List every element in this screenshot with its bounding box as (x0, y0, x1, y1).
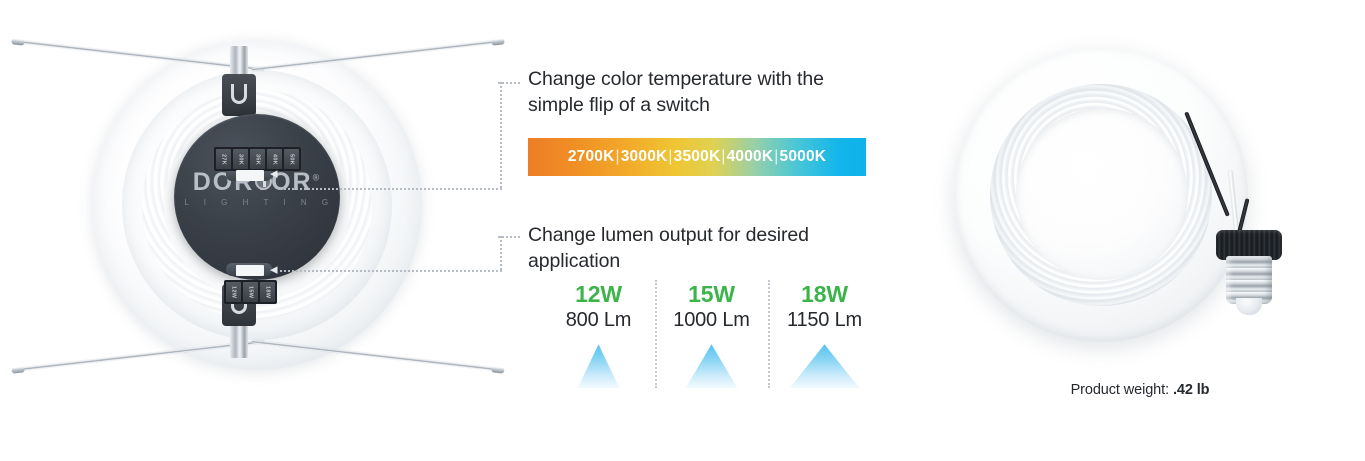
dip-cell[interactable]: 12W (226, 282, 241, 302)
cct-separator: | (720, 148, 726, 165)
dip-cell[interactable]: 50K (284, 149, 299, 169)
base-contact-tip (1236, 298, 1262, 315)
feature-title-color-temperature: Change color temperature with the simple… (528, 66, 858, 118)
wattage-value: 12W (575, 282, 622, 307)
brand-tagline: L I G H T I N G (174, 198, 340, 207)
cct-option: 2700K (568, 148, 615, 165)
lumen-value: 1150 Lm (787, 308, 862, 333)
wattage-option-18w: 18W 1150 Lm (768, 282, 881, 388)
lumen-value: 800 Lm (566, 308, 632, 333)
dip-cell[interactable]: 18W (260, 282, 275, 302)
feature-title-lumen-output: Change lumen output for desired applicat… (528, 222, 858, 274)
dip-cell[interactable]: 35K (250, 149, 265, 169)
dip-cell[interactable]: 30K (233, 149, 248, 169)
beam-cone-icon (686, 344, 738, 388)
product-weight-label: Product weight: (1071, 382, 1169, 398)
cct-option: 3000K (621, 148, 668, 165)
cct-option: 3500K (674, 148, 721, 165)
e26-screw-base (1226, 256, 1272, 304)
wattage-option-12w: 12W 800 Lm (542, 282, 655, 388)
feature-callouts: Change color temperature with the simple… (528, 0, 888, 461)
wattage-value: 15W (688, 282, 735, 307)
color-temperature-options: 2700K|3000K|3500K|4000K|5000K (568, 148, 826, 166)
cct-pointer-icon: ◂ (270, 166, 278, 181)
cct-option: 4000K (727, 148, 774, 165)
wattage-option-15w: 15W 1000 Lm (655, 282, 768, 388)
beam-cone-icon (790, 344, 860, 388)
wattage-pointer-icon: ◂ (270, 262, 278, 277)
cct-separator: | (773, 148, 779, 165)
product-weight-value: .42 lb (1173, 382, 1209, 398)
cct-dip-switch-bank[interactable]: 27K 30K 35K 40K 50K (214, 147, 301, 171)
wattage-value: 18W (801, 282, 848, 307)
cct-separator: | (615, 148, 621, 165)
registered-mark-icon: ® (313, 173, 322, 183)
cct-switch-window (236, 170, 264, 181)
dip-cell[interactable]: 15W (243, 282, 258, 302)
beam-cone-icon (578, 344, 620, 388)
wattage-dip-switch-bank[interactable]: 12W 15W 18W (224, 280, 277, 304)
downlight-front-view (940, 30, 1340, 430)
lumen-value: 1000 Lm (673, 308, 749, 333)
cct-separator: | (667, 148, 673, 165)
color-temperature-bar: 2700K|3000K|3500K|4000K|5000K (528, 138, 866, 176)
spring-clip-top (222, 74, 256, 116)
cct-option: 5000K (780, 148, 827, 165)
wattage-options-row: 12W 800 Lm 15W 1000 Lm 18W 1150 Lm (542, 282, 882, 388)
dip-cell[interactable]: 27K (216, 149, 231, 169)
driver-housing: DORTOR® L I G H T I N G (174, 114, 340, 280)
clip-bracket-icon (231, 84, 247, 104)
wattage-switch-window (236, 265, 264, 276)
product-weight: Product weight: .42 lb (940, 382, 1340, 398)
diffuser-lens (1016, 108, 1188, 280)
downlight-back-view: DORTOR® L I G H T I N G 27K 30K 35K 40K … (14, 22, 504, 432)
product-infographic: DORTOR® L I G H T I N G 27K 30K 35K 40K … (0, 0, 1365, 461)
